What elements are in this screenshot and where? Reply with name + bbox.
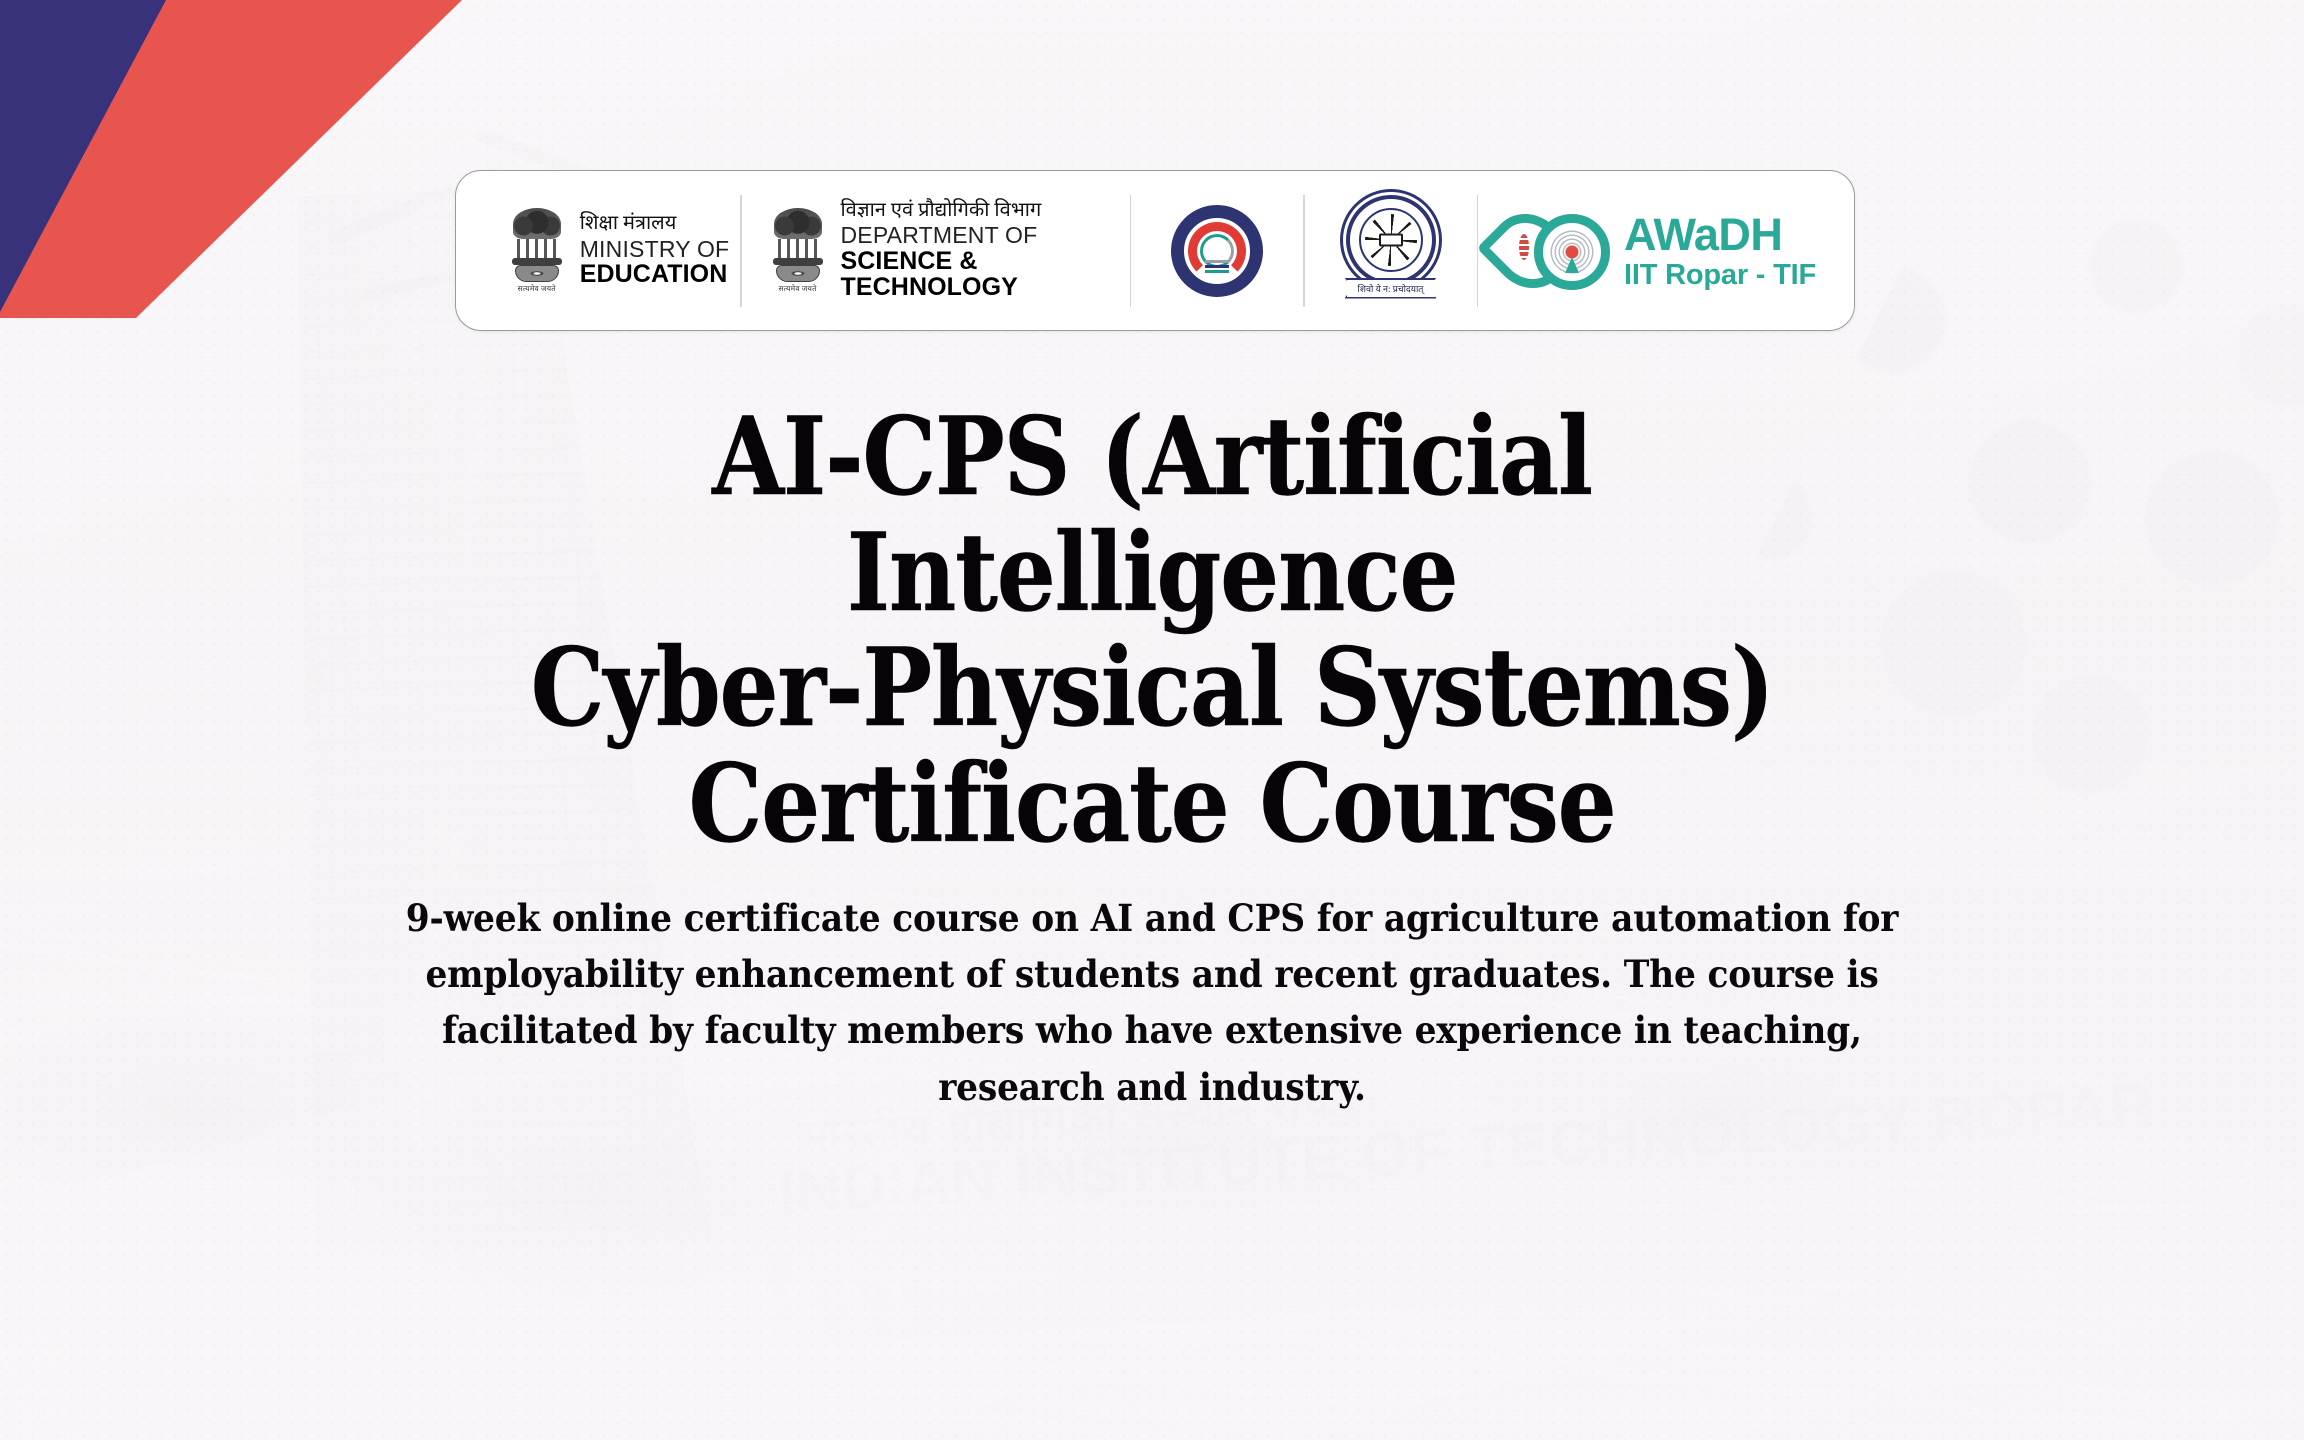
dst-hindi-label: विज्ञान एवं प्रौद्योगिकी विभाग bbox=[841, 200, 1130, 221]
ashoka-emblem-icon: सत्यमेव जयते bbox=[768, 208, 828, 294]
partner-logo-bar: सत्यमेव जयते शिक्षा मंत्रालय MINISTRY OF… bbox=[455, 170, 1855, 331]
page-title-line-2: Cyber-Physical Systems) bbox=[421, 631, 1883, 747]
nm-icps-seal-icon bbox=[1171, 205, 1263, 297]
course-description-line-4: research and industry. bbox=[334, 1059, 1971, 1115]
page-title-line-3: Certificate Course bbox=[421, 747, 1883, 863]
emblem-motto-label: सत्यमेव जयते bbox=[518, 284, 556, 294]
awadh-subtitle-label: IIT Ropar - TIF bbox=[1624, 261, 1816, 290]
logo-nm-icps bbox=[1131, 171, 1303, 330]
moe-hindi-label: शिक्षा मंत्रालय bbox=[580, 213, 730, 234]
moe-line2-label: EDUCATION bbox=[580, 261, 730, 288]
logo-ministry-of-education: सत्यमेव जयते शिक्षा मंत्रालय MINISTRY OF… bbox=[478, 171, 740, 330]
course-description: 9-week online certificate course on AI a… bbox=[272, 890, 2032, 1115]
logo-iit-ropar: शिवो ये न: प्रचोदयात् bbox=[1305, 171, 1477, 330]
logo-awadh: AWaDH IIT Ropar - TIF bbox=[1478, 171, 1832, 330]
course-description-line-3: facilitated by faculty members who have … bbox=[334, 1002, 1971, 1058]
page-title-line-1: AI-CPS (Artificial Intelligence bbox=[421, 400, 1883, 631]
poster-canvas: भारतीय प्रौद्योगिकी संस्थान रोपड़ INDIAN… bbox=[0, 0, 2304, 1440]
iit-ropar-crest-icon: शिवो ये न: प्रचोदयात् bbox=[1343, 195, 1439, 307]
dst-line1-label: DEPARTMENT OF bbox=[841, 223, 1130, 247]
page-title: AI-CPS (Artificial Intelligence Cyber-Ph… bbox=[302, 400, 2002, 862]
awadh-mark-icon bbox=[1494, 208, 1610, 294]
dst-line2-label: SCIENCE & TECHNOLOGY bbox=[841, 248, 1130, 301]
ashoka-emblem-icon: सत्यमेव जयते bbox=[507, 208, 567, 294]
awadh-name-label: AWaDH bbox=[1624, 212, 1816, 257]
logo-department-of-science-technology: सत्यमेव जयते विज्ञान एवं प्रौद्योगिकी वि… bbox=[742, 171, 1130, 330]
course-description-line-1: 9-week online certificate course on AI a… bbox=[334, 890, 1971, 946]
course-description-line-2: employability enhancement of students an… bbox=[334, 946, 1971, 1002]
moe-line1-label: MINISTRY OF bbox=[580, 237, 730, 261]
iit-ribbon-motto-label: शिवो ये न: प्रचोदयात् bbox=[1345, 278, 1437, 299]
emblem-motto-label: सत्यमेव जयते bbox=[778, 284, 816, 294]
